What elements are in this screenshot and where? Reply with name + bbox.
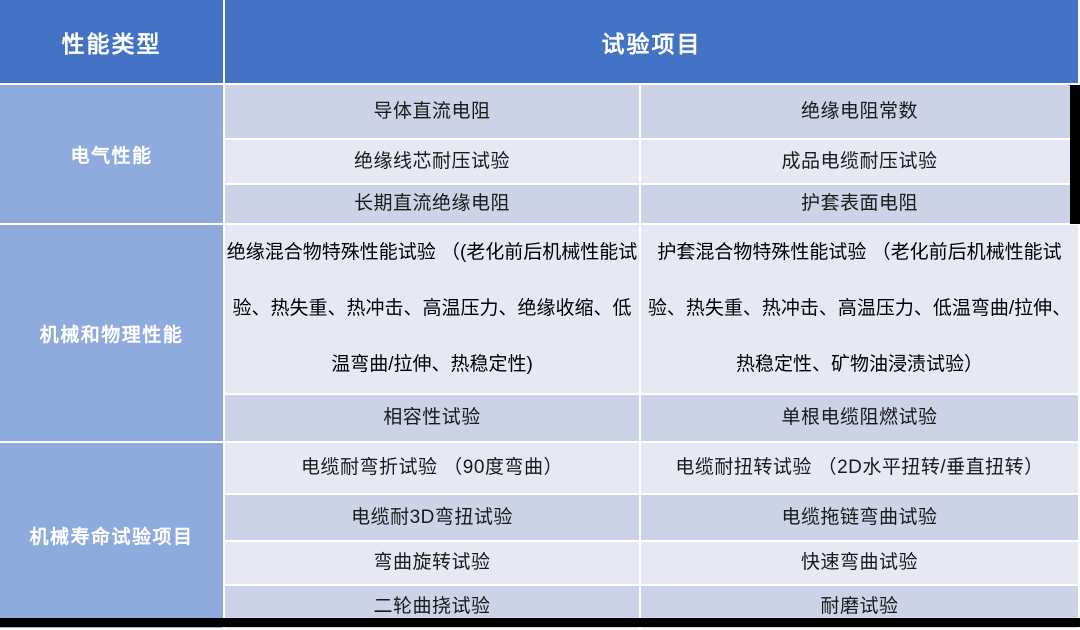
bottom-edge-strip — [0, 618, 1080, 627]
table-cell: 导体直流电阻 — [225, 85, 641, 140]
performance-test-table: 性能类型 试验项目 电气性能 导体直流电阻 绝缘电阻常数 绝缘线芯耐压试验 成品… — [0, 0, 1080, 630]
table-cell: 绝缘线芯耐压试验 — [225, 140, 641, 185]
table-cell: 相容性试验 — [225, 395, 641, 443]
table-cell: 电缆耐弯折试验 （90度弯曲） — [225, 443, 641, 495]
category-cell-electrical: 电气性能 — [0, 85, 225, 225]
table-cell: 护套混合物特殊性能试验 （老化前后机械性能试验、热失重、热冲击、高温压力、低温弯… — [641, 225, 1080, 395]
table-cell: 成品电缆耐压试验 — [641, 140, 1080, 185]
table-cell: 长期直流绝缘电阻 — [225, 185, 641, 225]
header-cell-test-items: 试验项目 — [225, 0, 1080, 85]
table-cell: 绝缘混合物特殊性能试验 （(老化前后机械性能试验、热失重、热冲击、高温压力、绝缘… — [225, 225, 641, 395]
table-cell: 绝缘电阻常数 — [641, 85, 1080, 140]
table-cell: 护套表面电阻 — [641, 185, 1080, 225]
table-row: 电气性能 导体直流电阻 绝缘电阻常数 — [0, 85, 1080, 140]
table-row: 机械和物理性能 绝缘混合物特殊性能试验 （(老化前后机械性能试验、热失重、热冲击… — [0, 225, 1080, 395]
right-edge-strip — [1070, 85, 1080, 224]
table-cell: 弯曲旋转试验 — [225, 542, 641, 586]
table-cell: 快速弯曲试验 — [641, 542, 1080, 586]
table-cell: 电缆拖链弯曲试验 — [641, 495, 1080, 542]
table-header-row: 性能类型 试验项目 — [0, 0, 1080, 85]
table-cell: 电缆耐3D弯扭试验 — [225, 495, 641, 542]
table-row: 机械寿命试验项目 电缆耐弯折试验 （90度弯曲） 电缆耐扭转试验 （2D水平扭转… — [0, 443, 1080, 495]
table-cell: 单根电缆阻燃试验 — [641, 395, 1080, 443]
header-cell-category: 性能类型 — [0, 0, 225, 85]
performance-test-table-root: 性能类型 试验项目 电气性能 导体直流电阻 绝缘电阻常数 绝缘线芯耐压试验 成品… — [0, 0, 1080, 627]
category-cell-mechanical-life: 机械寿命试验项目 — [0, 443, 225, 630]
category-cell-mechanical-physical: 机械和物理性能 — [0, 225, 225, 443]
table-cell: 电缆耐扭转试验 （2D水平扭转/垂直扭转） — [641, 443, 1080, 495]
